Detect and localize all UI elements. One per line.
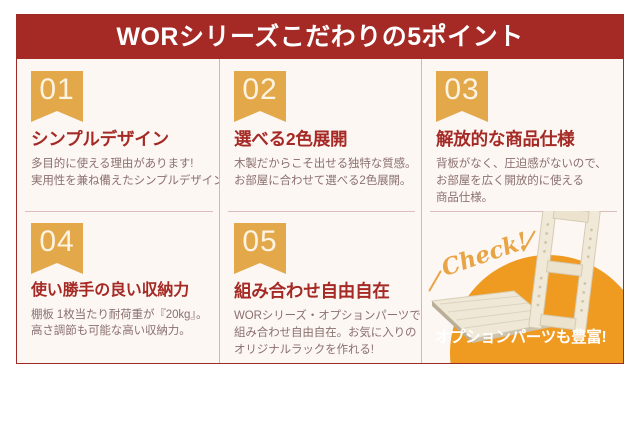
promo-caption: オプションパーツも豊富! [422,325,619,347]
point-badge-03: 03 [436,71,488,111]
point-body-05: WORシリーズ・オプションパーツで 組み合わせ自由自在。お気に入りの オリジナル… [234,308,411,358]
point-body-line: 棚板 1枚当たり耐荷重が『20kg』。 [31,307,209,324]
point-body-line: オリジナルラックを作れる! [234,342,411,359]
point-title-03: 解放的な商品仕様 [436,130,613,149]
page-title: WORシリーズこだわりの5ポイント [116,25,523,50]
point-body-line: 組み合わせ自由自在。お気に入りの [234,325,411,342]
point-body-line: WORシリーズ・オプションパーツで [234,308,411,325]
promo-clip: Check! [422,211,623,363]
point-card-02: 02 選べる2色展開 木製だからこそ出せる独特な質感。 お部屋に合わせて選べる2… [219,59,421,211]
point-body-line: 商品仕様。 [436,190,613,207]
point-body-line: 実用性を兼ね備えたシンプルデザイン [31,173,209,190]
point-number-01: 01 [39,71,74,109]
point-number-05: 05 [242,223,277,261]
option-parts-promo: Check! [421,211,623,363]
point-title-02: 選べる2色展開 [234,130,411,149]
point-body-01: 多目的に使える理由があります! 実用性を兼ね備えたシンプルデザイン [31,156,209,189]
point-title-01: シンプルデザイン [31,130,209,149]
point-body-line: お部屋を広く開放的に使える [436,173,613,190]
point-body-line: お部屋に合わせて選べる2色展開。 [234,173,411,190]
points-grid: 01 シンプルデザイン 多目的に使える理由があります! 実用性を兼ね備えたシンプ… [17,59,623,363]
point-card-05: 05 組み合わせ自由自在 WORシリーズ・オプションパーツで 組み合わせ自由自在… [219,211,421,363]
point-number-03: 03 [444,71,479,109]
feature-card: WORシリーズこだわりの5ポイント 01 シンプルデザイン 多目的に使える理由が… [16,14,624,364]
point-card-03: 03 解放的な商品仕様 背板がなく、圧迫感がないので、 お部屋を広く開放的に使え… [421,59,623,211]
point-badge-05: 05 [234,223,286,263]
point-body-line: 背板がなく、圧迫感がないので、 [436,156,613,173]
point-body-02: 木製だからこそ出せる独特な質感。 お部屋に合わせて選べる2色展開。 [234,156,411,189]
point-number-04: 04 [39,223,74,261]
point-badge-04: 04 [31,223,83,263]
point-badge-02: 02 [234,71,286,111]
point-body-03: 背板がなく、圧迫感がないので、 お部屋を広く開放的に使える 商品仕様。 [436,156,613,206]
point-body-line: 多目的に使える理由があります! [31,156,209,173]
point-card-01: 01 シンプルデザイン 多目的に使える理由があります! 実用性を兼ね備えたシンプ… [17,59,219,211]
card-header: WORシリーズこだわりの5ポイント [17,15,623,59]
point-number-02: 02 [242,71,277,109]
point-body-line: 高さ調節も可能な高い収納力。 [31,323,209,340]
point-title-05: 組み合わせ自由自在 [234,282,411,301]
point-title-04: 使い勝手の良い収納力 [31,282,209,300]
point-body-line: 木製だからこそ出せる独特な質感。 [234,156,411,173]
point-body-04: 棚板 1枚当たり耐荷重が『20kg』。 高さ調節も可能な高い収納力。 [31,307,209,340]
point-badge-01: 01 [31,71,83,111]
point-card-04: 04 使い勝手の良い収納力 棚板 1枚当たり耐荷重が『20kg』。 高さ調節も可… [17,211,219,363]
